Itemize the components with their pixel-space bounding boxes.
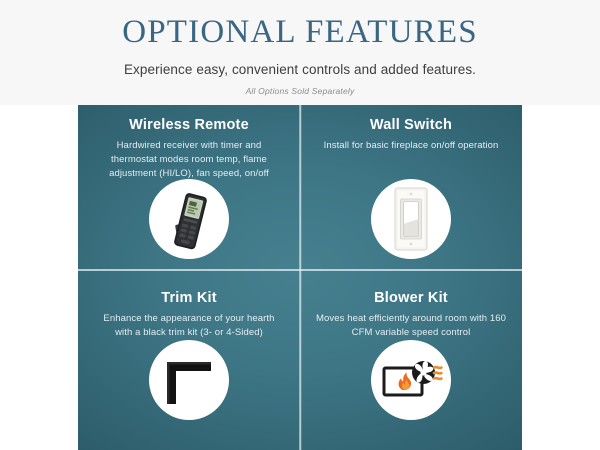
wall-switch-icon	[371, 179, 451, 259]
feature-card-trim-kit[interactable]: Trim Kit Enhance the appearance of your …	[78, 278, 300, 450]
feature-title: Wireless Remote	[129, 117, 249, 133]
feature-title: Wall Switch	[370, 117, 452, 133]
feature-icon-badge	[371, 179, 451, 259]
features-grid: Wireless Remote Hardwired receiver with …	[78, 105, 522, 450]
feature-icon-badge	[149, 340, 229, 420]
feature-card-blower-kit[interactable]: Blower Kit Moves heat efficiently around…	[300, 278, 522, 450]
feature-card-wireless-remote[interactable]: Wireless Remote Hardwired receiver with …	[78, 105, 300, 278]
feature-title: Trim Kit	[161, 290, 217, 306]
blower-fan-icon	[371, 340, 451, 420]
feature-description: Enhance the appearance of your hearth wi…	[94, 312, 284, 340]
page-disclaimer-note: All Options Sold Separately	[0, 86, 600, 96]
features-panel: Wireless Remote Hardwired receiver with …	[78, 105, 522, 450]
page-header: OPTIONAL FEATURES Experience easy, conve…	[0, 0, 600, 105]
page-subtitle: Experience easy, convenient controls and…	[0, 62, 600, 77]
feature-description: Moves heat efficiently around room with …	[316, 312, 506, 340]
feature-icon-badge	[371, 340, 451, 420]
feature-icon-badge	[149, 179, 229, 259]
feature-description: Install for basic fireplace on/off opera…	[324, 139, 499, 153]
feature-card-wall-switch[interactable]: Wall Switch Install for basic fireplace …	[300, 105, 522, 278]
feature-title: Blower Kit	[374, 290, 448, 306]
remote-control-icon	[149, 179, 229, 259]
page-title: OPTIONAL FEATURES	[0, 16, 600, 49]
feature-description: Hardwired receiver with timer and thermo…	[94, 139, 284, 181]
trim-corner-icon	[149, 340, 229, 420]
